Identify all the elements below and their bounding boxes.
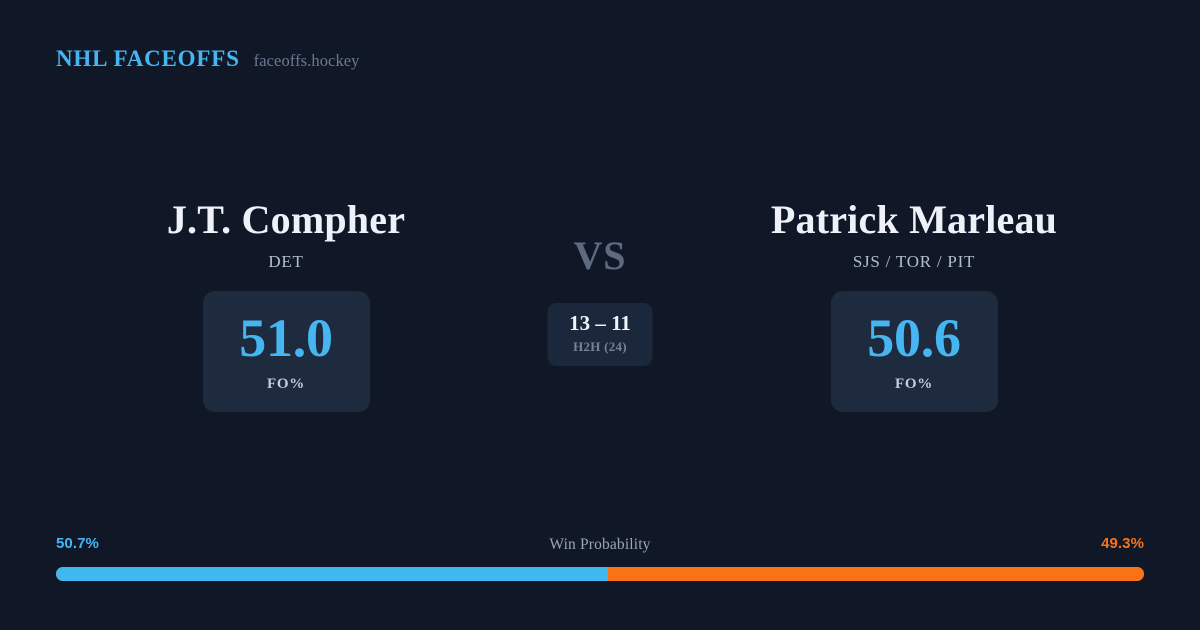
player-right-name: Patrick Marleau (771, 196, 1057, 243)
win-probability-left-value: 50.7% (56, 535, 99, 552)
player-left-teams: DET (268, 252, 303, 272)
win-probability-section: 50.7% Win Probability 49.3% (56, 535, 1144, 581)
head-to-head-label: H2H (24) (573, 339, 627, 355)
win-probability-bar-right-fill (608, 567, 1144, 581)
brand-header: NHL FACEOFFS faceoffs.hockey (56, 46, 360, 72)
player-right-faceoff-pct-label: FO% (895, 376, 933, 393)
matchup-section: J.T. Compher DET 51.0 FO% VS 13 – 11 H2H… (0, 196, 1200, 436)
player-right-teams: SJS / TOR / PIT (853, 252, 975, 272)
player-right: Patrick Marleau SJS / TOR / PIT 50.6 FO% (684, 196, 1144, 412)
brand-title: NHL FACEOFFS (56, 46, 240, 72)
player-left-faceoff-pct-value: 51.0 (239, 311, 332, 365)
win-probability-bar (56, 567, 1144, 581)
player-right-stat-card: 50.6 FO% (831, 291, 998, 412)
head-to-head-record: 13 – 11 (569, 312, 631, 335)
win-probability-labels: 50.7% Win Probability 49.3% (56, 535, 1144, 555)
win-probability-right-value: 49.3% (1101, 535, 1144, 552)
win-probability-title: Win Probability (549, 536, 650, 554)
brand-domain: faceoffs.hockey (254, 51, 360, 71)
player-left: J.T. Compher DET 51.0 FO% (56, 196, 516, 412)
player-right-faceoff-pct-value: 50.6 (867, 311, 960, 365)
player-left-stat-card: 51.0 FO% (203, 291, 370, 412)
versus-label: VS (574, 236, 627, 276)
player-left-faceoff-pct-label: FO% (267, 376, 305, 393)
player-left-name: J.T. Compher (167, 196, 405, 243)
win-probability-bar-left-fill (56, 567, 608, 581)
faceoff-matchup-card: NHL FACEOFFS faceoffs.hockey J.T. Comphe… (0, 0, 1200, 630)
head-to-head-card: 13 – 11 H2H (24) (548, 303, 653, 366)
versus-block: VS 13 – 11 H2H (24) (548, 236, 653, 366)
